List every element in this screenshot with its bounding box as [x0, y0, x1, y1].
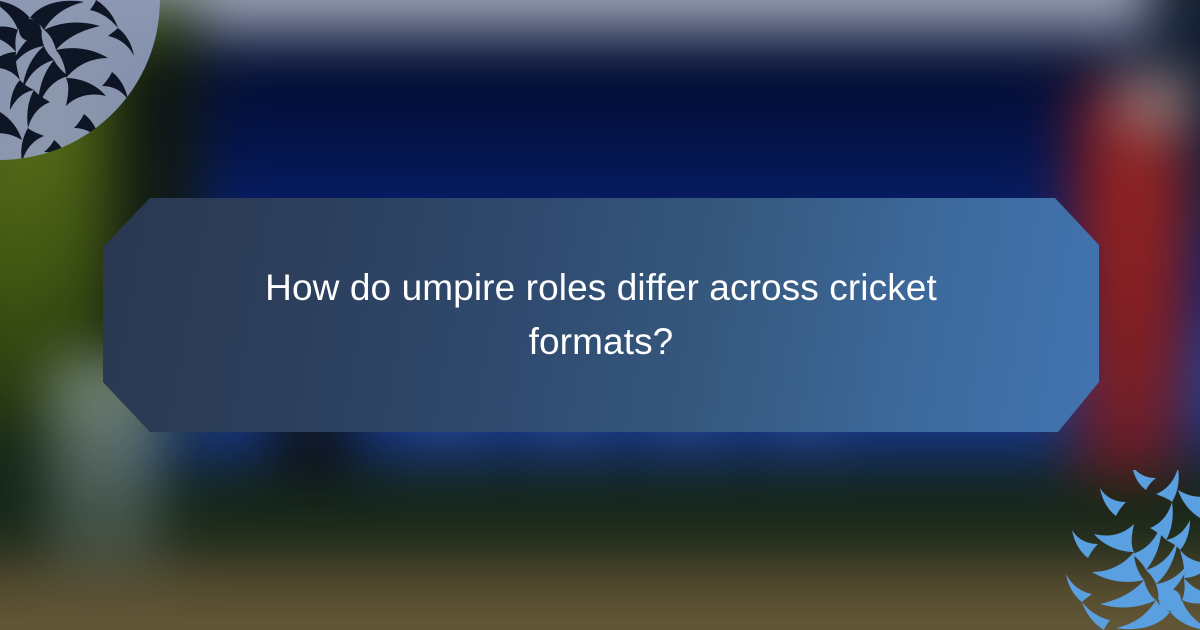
question-card: How do umpire roles differ across cricke…: [103, 198, 1099, 432]
question-text: How do umpire roles differ across cricke…: [221, 261, 981, 369]
question-card-image: How do umpire roles differ across cricke…: [0, 0, 1200, 630]
